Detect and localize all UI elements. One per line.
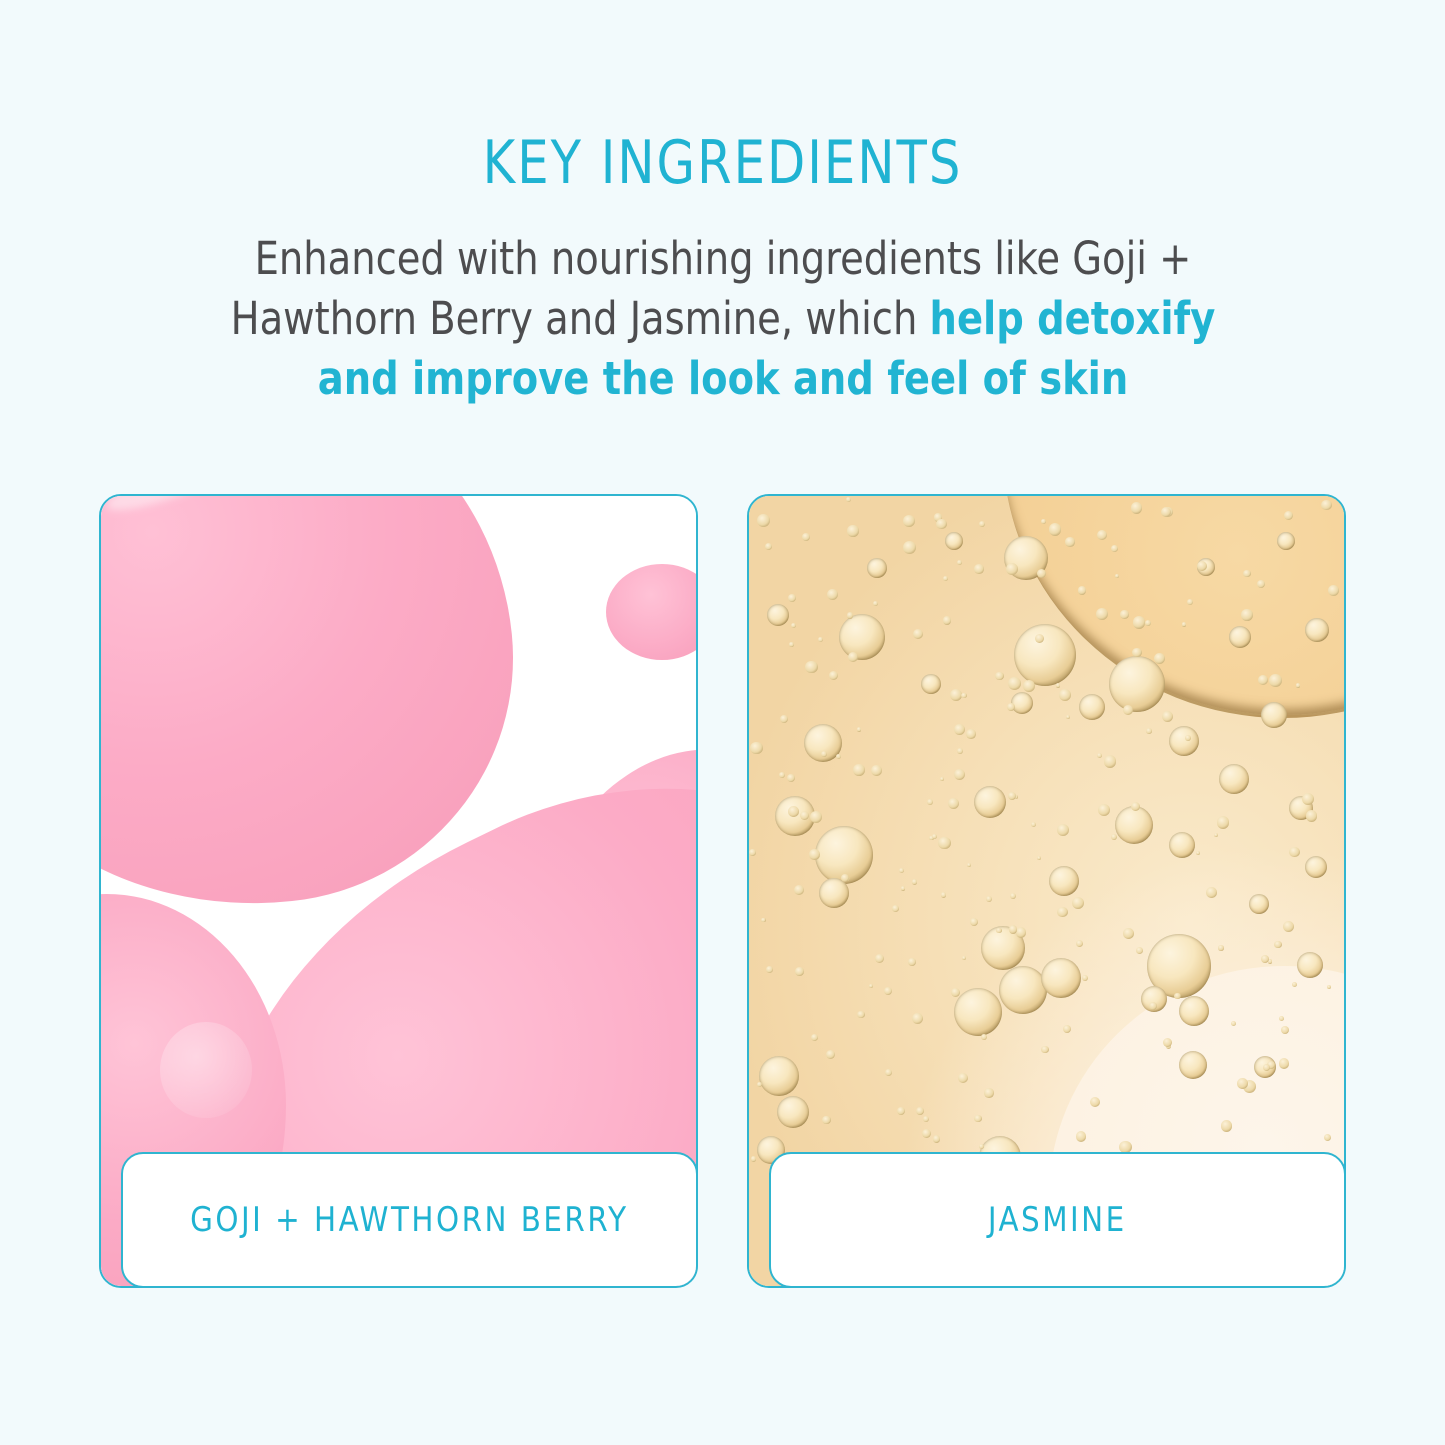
oil-bubble-speck <box>901 886 906 891</box>
oil-bubble-speck <box>1131 502 1143 514</box>
oil-bubble-speck <box>979 521 985 527</box>
oil-bubble-speck <box>1076 1131 1086 1141</box>
oil-bubble <box>1011 692 1033 714</box>
oil-bubble-speck <box>1006 563 1018 575</box>
oil-bubble-speck <box>847 525 859 537</box>
ingredient-card-goji[interactable]: GOJI + HAWTHORN BERRY <box>99 494 698 1288</box>
oil-bubble-speck <box>1214 833 1218 837</box>
ingredient-card-jasmine[interactable]: JASMINE <box>747 494 1346 1288</box>
oil-bubble-speck <box>1016 927 1027 938</box>
oil-bubble-speck <box>1218 945 1224 951</box>
oil-bubble-speck <box>1206 887 1217 898</box>
oil-bubble-speck <box>974 564 984 574</box>
oil-bubble-speck <box>766 966 773 973</box>
oil-bubble-speck <box>933 1135 941 1143</box>
oil-bubble-speck <box>1241 609 1253 621</box>
oil-bubble-speck <box>873 601 878 606</box>
oil-bubble-speck <box>1041 519 1046 524</box>
oil-bubble-speck <box>1154 653 1165 664</box>
oil-bubble-speck <box>984 1088 993 1097</box>
oil-bubble-speck <box>1133 616 1146 629</box>
oil-bubble-speck <box>1283 921 1294 932</box>
oil-bubble-speck <box>822 1116 830 1124</box>
oil-bubble-speck <box>1008 792 1016 800</box>
oil-bubble-speck <box>966 729 976 739</box>
oil-bubble <box>1249 894 1269 914</box>
oil-bubble <box>1169 726 1199 756</box>
oil-bubble-speck <box>995 672 1004 681</box>
card-label-panel-jasmine: JASMINE <box>769 1152 1346 1288</box>
oil-bubble-speck <box>1289 847 1300 858</box>
oil-bubble-speck <box>1258 675 1268 685</box>
oil-bubble <box>1219 764 1249 794</box>
oil-bubble <box>974 786 1006 818</box>
oil-bubble-speck <box>1057 824 1069 836</box>
oil-bubble-speck <box>961 693 966 698</box>
oil-bubble-speck <box>1324 1134 1331 1141</box>
oil-bubble-speck <box>1174 993 1180 999</box>
oil-bubble-speck <box>788 806 799 817</box>
oil-bubble-speck <box>1149 1002 1157 1010</box>
oil-bubble <box>1014 624 1076 686</box>
oil-bubble-speck <box>749 849 756 856</box>
oil-bubble-speck <box>938 837 951 850</box>
oil-bubble-speck <box>899 868 904 873</box>
oil-bubble-speck <box>853 764 865 776</box>
oil-bubble-speck <box>1078 586 1086 594</box>
ingredient-card-list: GOJI + HAWTHORN BERRY JASMINE <box>99 494 1346 1290</box>
oil-bubble-speck <box>1243 570 1251 578</box>
oil-bubble-speck <box>1097 530 1107 540</box>
oil-bubble-speck <box>869 984 873 988</box>
oil-bubble <box>921 674 941 694</box>
oil-bubble-speck <box>1302 793 1314 805</box>
oil-bubble-speck <box>996 928 1002 934</box>
oil-bubble-speck <box>954 724 965 735</box>
oil-bubble <box>839 614 885 660</box>
oil-bubble <box>1115 806 1153 844</box>
oil-bubble-speck <box>1187 599 1193 605</box>
oil-bubble-speck <box>1221 1120 1233 1132</box>
oil-bubble <box>1229 626 1251 648</box>
oil-bubble-speck <box>751 1156 757 1162</box>
oil-bubble <box>767 604 789 626</box>
oil-bubble-speck <box>916 1107 924 1115</box>
oil-bubble-speck <box>1035 634 1044 643</box>
oil-bubble-speck <box>941 892 946 897</box>
oil-bubble-speck <box>841 874 849 882</box>
oil-bubble-speck <box>1132 648 1142 658</box>
oil-bubble-speck <box>757 1082 762 1087</box>
oil-bubble <box>777 1096 809 1128</box>
oil-bubble-speck <box>795 967 804 976</box>
oil-bubble <box>1305 618 1329 642</box>
oil-bubble-speck <box>809 849 820 860</box>
oil-bubble-speck <box>1123 928 1134 939</box>
oil-bubble-speck <box>1196 851 1200 855</box>
card-label-panel-goji: GOJI + HAWTHORN BERRY <box>121 1152 698 1288</box>
oil-bubble-speck <box>780 715 788 723</box>
oil-bubble-speck <box>1008 677 1021 690</box>
subhead: Enhanced with nourishing ingredients lik… <box>200 229 1245 409</box>
oil-bubble <box>1297 952 1323 978</box>
oil-bubble-speck <box>1120 610 1129 619</box>
oil-bubble-speck <box>1217 816 1230 829</box>
oil-bubble-speck <box>1131 802 1140 811</box>
page-title: KEY INGREDIENTS <box>58 132 1387 195</box>
oil-bubble-speck <box>943 576 948 581</box>
oil-bubble <box>1305 856 1327 878</box>
oil-bubble-speck <box>927 799 933 805</box>
oil-bubble-speck <box>1065 537 1075 547</box>
oil-bubble-speck <box>1163 1038 1172 1047</box>
oil-bubble-speck <box>805 661 817 673</box>
oil-bubble-speck <box>779 772 785 778</box>
oil-bubble <box>954 988 1002 1036</box>
oil-bubble-speck <box>897 1107 905 1115</box>
oil-bubble <box>1049 866 1079 896</box>
oil-bubble-speck <box>986 896 992 902</box>
oil-bubble-speck <box>1182 622 1187 627</box>
card-label-text: JASMINE <box>988 1200 1127 1240</box>
oil-bubble-speck <box>1136 947 1143 954</box>
oil-bubble <box>945 532 963 550</box>
oil-bubble-speck <box>1023 680 1035 692</box>
oil-bubble-speck <box>957 560 962 565</box>
oil-bubble-speck <box>1146 728 1152 734</box>
oil-bubble <box>1169 832 1195 858</box>
card-label-text: GOJI + HAWTHORN BERRY <box>190 1200 628 1240</box>
oil-bubble <box>1041 958 1081 998</box>
oil-bubble-speck <box>1269 674 1282 687</box>
oil-bubble <box>1277 532 1295 550</box>
oil-bubble-speck <box>908 958 916 966</box>
oil-bubble <box>1261 702 1287 728</box>
oil-bubble <box>867 558 887 578</box>
oil-bubble-speck <box>1231 1021 1236 1026</box>
oil-bubble-speck <box>1279 1058 1290 1069</box>
oil-bubble-speck <box>892 905 899 912</box>
oil-bubble-speck <box>750 742 763 755</box>
oil-bubble <box>759 1056 799 1096</box>
oil-bubble-speck <box>857 1011 865 1019</box>
oil-bubble-speck <box>974 1115 982 1123</box>
oil-bubble-speck <box>794 885 804 895</box>
oil-bubble <box>1109 656 1165 712</box>
oil-bubble-speck <box>848 652 858 662</box>
oil-bubble <box>999 966 1047 1014</box>
oil-bubble-speck <box>1049 523 1062 536</box>
oil-bubble-speck <box>1257 580 1265 588</box>
oil-bubble <box>819 878 849 908</box>
oil-bubble-speck <box>1111 545 1118 552</box>
key-ingredients-panel: KEY INGREDIENTS Enhanced with nourishing… <box>0 0 1445 1445</box>
oil-bubble-speck <box>1059 689 1071 701</box>
oil-bubble-speck <box>957 748 964 755</box>
oil-bubble-speck <box>1306 810 1318 822</box>
oil-bubble-speck <box>912 879 918 885</box>
oil-bubble-speck <box>871 765 882 776</box>
oil-bubble <box>1179 1051 1207 1079</box>
oil-bubble <box>1179 996 1209 1026</box>
oil-bubble-speck <box>1031 822 1036 827</box>
oil-bubble-speck <box>847 612 853 618</box>
oil-bubble-speck <box>981 1034 987 1040</box>
oil-bubble-speck <box>1145 620 1151 626</box>
oil-bubble-speck <box>922 1129 931 1138</box>
oil-bubble-speck <box>903 541 916 554</box>
oil-bubble <box>1079 694 1105 720</box>
oil-bubble-speck <box>950 689 962 701</box>
oil-bubble-speck <box>811 1034 818 1041</box>
oil-bubble-speck <box>1237 1078 1248 1089</box>
oil-bubble-speck <box>857 727 861 731</box>
oil-bubble-speck <box>1007 703 1015 711</box>
header: KEY INGREDIENTS Enhanced with nourishing… <box>0 132 1445 409</box>
oil-bubble-speck <box>936 519 947 530</box>
